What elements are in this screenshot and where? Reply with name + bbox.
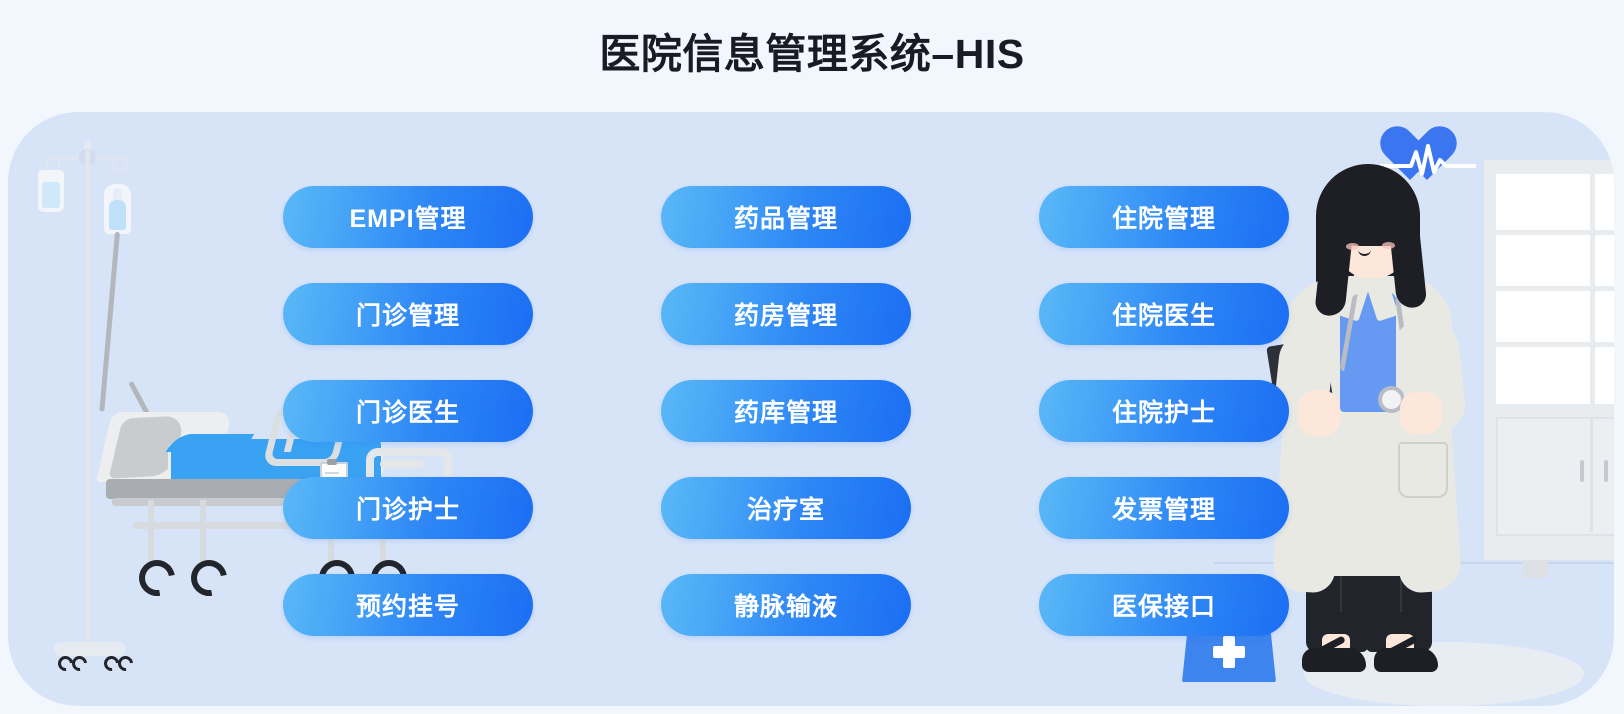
bed-leg (200, 500, 206, 562)
doctor-hair-front (1328, 182, 1420, 246)
cabinet-foot (1522, 560, 1548, 578)
doctor-eye-right (1378, 231, 1384, 238)
cabinet-shelf-divider (1496, 230, 1614, 235)
module-button-inpatient-management[interactable]: 住院管理 (1039, 186, 1289, 248)
iv-tube-upper (99, 232, 120, 412)
first-aid-cross-icon (1213, 646, 1245, 658)
module-button-outpatient-doctor[interactable]: 门诊医生 (283, 380, 533, 442)
module-button-medical-insurance-interface[interactable]: 医保接口 (1039, 574, 1289, 636)
iv-pole-caster (115, 653, 136, 674)
iv-hook-right-icon (113, 158, 127, 172)
iv-pole-mast (85, 150, 90, 650)
module-button-grid: EMPI管理 药品管理 住院管理 门诊管理 药房管理 住院医生 门诊医生 药库管… (283, 186, 1303, 636)
bed-blanket-fold (166, 434, 254, 452)
iv-bag-left-fluid (42, 182, 60, 208)
module-button-drug-warehouse-management[interactable]: 药库管理 (661, 380, 911, 442)
page-title: 医院信息管理系统–HIS (0, 26, 1624, 82)
cabinet-door-split (1590, 417, 1593, 532)
module-button-inpatient-nurse[interactable]: 住院护士 (1039, 380, 1289, 442)
cabinet-mullion (1590, 174, 1595, 404)
cabinet-handle (1580, 460, 1584, 482)
iv-pole-base (54, 642, 126, 656)
module-button-treatment-room[interactable]: 治疗室 (661, 477, 911, 539)
doctor-coat-pocket (1398, 442, 1448, 498)
doctor-cheek-right (1382, 242, 1395, 249)
iv-bag-right-fluid (109, 200, 126, 230)
iv-pole-caster (69, 653, 90, 674)
cabinet-doors (1496, 417, 1614, 536)
module-button-outpatient-nurse[interactable]: 门诊护士 (283, 477, 533, 539)
module-button-invoice-management[interactable]: 发票管理 (1039, 477, 1289, 539)
doctor-shoe-left (1302, 648, 1366, 672)
module-button-intravenous-infusion[interactable]: 静脉输液 (661, 574, 911, 636)
main-panel: EMPI管理 药品管理 住院管理 门诊管理 药房管理 住院医生 门诊医生 药库管… (8, 112, 1614, 706)
cabinet-shelf-divider (1496, 286, 1614, 291)
bed-leg (148, 500, 154, 562)
doctor-hand-right (1400, 392, 1442, 434)
module-button-appointment-registration[interactable]: 预约挂号 (283, 574, 533, 636)
module-button-outpatient-management[interactable]: 门诊管理 (283, 283, 533, 345)
module-button-pharmacy-management[interactable]: 药房管理 (661, 283, 911, 345)
module-button-empi-management[interactable]: EMPI管理 (283, 186, 533, 248)
doctor-hand-left (1298, 390, 1340, 436)
cabinet-handle (1604, 460, 1608, 482)
doctor-eye-left (1353, 232, 1359, 239)
bed-caster (132, 553, 182, 603)
module-button-drug-management[interactable]: 药品管理 (661, 186, 911, 248)
bed-caster (184, 553, 234, 603)
doctor-shoe-right (1374, 648, 1438, 672)
module-button-inpatient-doctor[interactable]: 住院医生 (1039, 283, 1289, 345)
cabinet-shelf-divider (1496, 342, 1614, 347)
